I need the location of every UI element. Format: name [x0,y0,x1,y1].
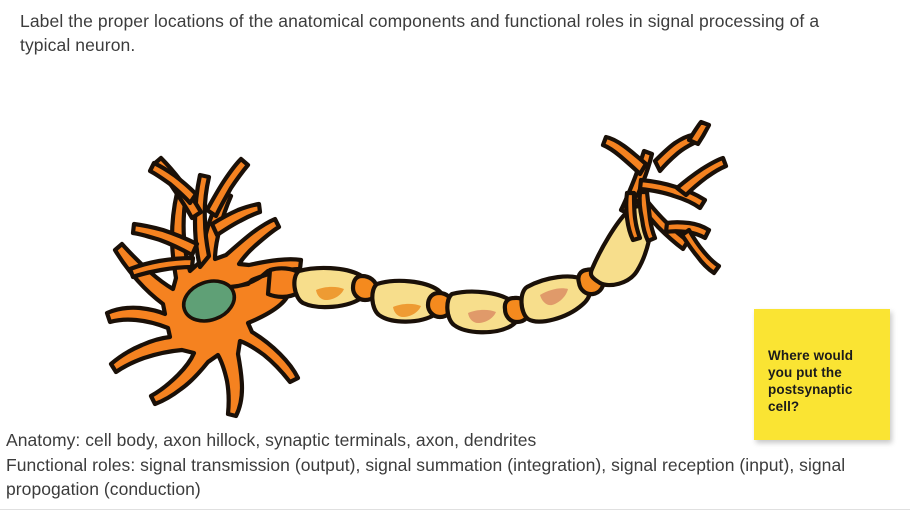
sticky-note[interactable]: Where would you put the postsynaptic cel… [754,309,890,440]
neuron-diagram[interactable] [0,62,780,427]
neuron-illustration [0,62,780,427]
footer-strip [0,510,910,520]
page-title: Label the proper locations of the anatom… [20,9,860,57]
word-bank-functional-roles-line: Functional roles: signal transmission (o… [6,453,896,502]
word-bank-anatomy-line: Anatomy: cell body, axon hillock, synapt… [6,428,896,453]
sticky-note-text: Where would you put the postsynaptic cel… [768,347,872,415]
activity-page: Label the proper locations of the anatom… [0,0,910,520]
word-bank: Anatomy: cell body, axon hillock, synapt… [6,428,896,502]
